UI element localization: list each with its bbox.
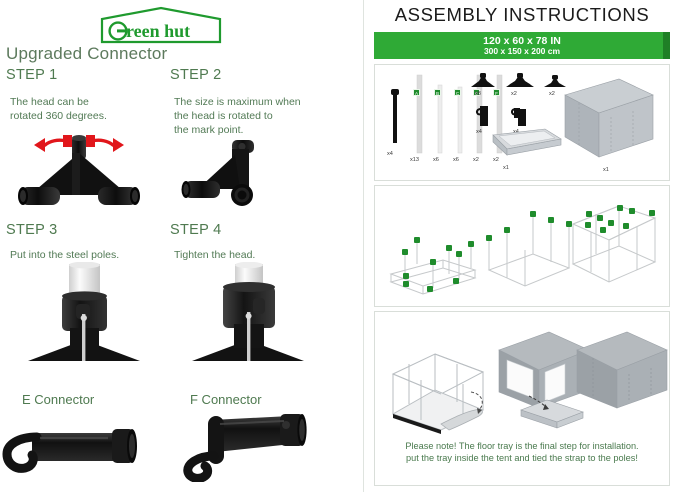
final-assembly-box: Please note! The floor tray is the final… (374, 311, 670, 486)
size-centimeters: 300 x 150 x 200 cm (374, 47, 670, 57)
step-1-text: The head can be rotated 360 degrees. (10, 95, 160, 123)
floor-tray-icon (473, 125, 563, 161)
frame-step-1-diagram (383, 200, 483, 300)
frame-assembly-box (374, 185, 670, 307)
four-way-connector-qty: x2 (511, 91, 517, 97)
pole-tag-c: C (454, 89, 461, 96)
parts-list-box: x4 A B C E F x13 x6 x6 x2 x2 x8 x (374, 64, 670, 181)
pole-c-qty: x6 (453, 157, 459, 163)
tray-qty: x1 (503, 165, 509, 171)
banner-tab (663, 32, 670, 59)
assembly-instructions-panel: ASSEMBLY INSTRUCTIONS 120 x 60 x 78 IN 3… (363, 0, 679, 492)
green-hut-logo: reen hut (100, 6, 222, 44)
tent-cover-qty: x1 (603, 167, 609, 173)
pole-tag-f: F (493, 89, 500, 96)
upgraded-connector-panel: reen hut Upgraded Connector STEP 1 The h… (0, 0, 360, 492)
three-way-connector-icon (470, 73, 496, 89)
step-4-figure (190, 262, 306, 362)
e-connector-label: E Connector (22, 392, 94, 407)
e-connector-part-icon (475, 103, 491, 127)
step-4-heading: STEP 4 (170, 222, 222, 238)
step-3-heading: STEP 3 (6, 222, 58, 238)
f-connector-part-icon (511, 103, 529, 127)
pole-tag-b: B (434, 89, 441, 96)
cover-over-frame-diagram (383, 332, 493, 437)
page-title: Upgraded Connector (6, 44, 167, 64)
tent-cover-icon (553, 75, 657, 165)
f-connector-label: F Connector (190, 392, 262, 407)
svg-text:reen hut: reen hut (126, 21, 190, 41)
step-3-text: Put into the steel poles. (10, 248, 160, 262)
size-banner: 120 x 60 x 78 IN 300 x 150 x 200 cm (374, 32, 670, 59)
step-2-heading: STEP 2 (170, 67, 222, 83)
size-inches: 120 x 60 x 78 IN (374, 35, 670, 47)
step-2-figure (180, 137, 300, 209)
pole-b-qty: x6 (433, 157, 439, 163)
three-way-connector-qty: x8 (475, 91, 481, 97)
assembly-title: ASSEMBLY INSTRUCTIONS (364, 4, 679, 26)
screw-icon (387, 87, 403, 149)
pole-a-qty: x13 (410, 157, 419, 163)
f-connector-figure (172, 410, 317, 482)
step-1-heading: STEP 1 (6, 67, 58, 83)
step-2-text: The size is maximum when the head is rot… (174, 95, 334, 138)
step-3-figure (26, 262, 142, 362)
step-1-figure (14, 125, 144, 207)
four-way-connector-icon (505, 73, 535, 89)
step-4-text: Tighten the head. (174, 248, 324, 262)
completed-tent-diagram (571, 328, 671, 418)
screw-qty: x4 (387, 151, 393, 157)
frame-step-3-diagram (567, 192, 662, 297)
e-connector-figure (2, 415, 147, 477)
pole-tag-a: A (413, 89, 420, 96)
installation-note: Please note! The floor tray is the final… (375, 440, 669, 465)
frame-step-2-diagram (483, 194, 573, 294)
